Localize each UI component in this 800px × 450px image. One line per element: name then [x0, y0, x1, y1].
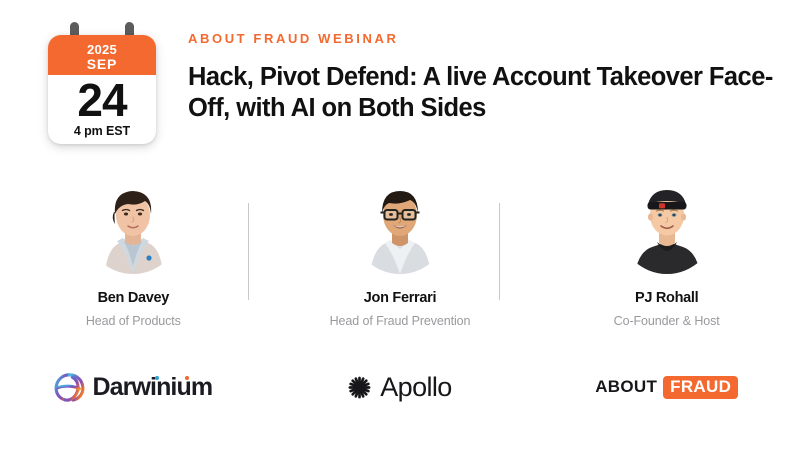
speaker-role: Co-Founder & Host — [614, 314, 720, 328]
darwinium-logo: Darwinium — [54, 372, 212, 403]
apollo-logo: Apollo — [348, 373, 451, 401]
darwinium-wordmark: Darwinium — [92, 374, 212, 400]
speaker-card-pj-rohall: PJ Rohall Co-Founder & Host — [533, 178, 800, 348]
speaker-role: Head of Fraud Prevention — [330, 314, 471, 328]
webinar-promo-card: 2025 SEP 24 4 pm EST ABOUT FRAUD WEBINAR… — [0, 0, 800, 450]
speakers-row: Ben Davey Head of Products — [0, 178, 800, 348]
speaker-card-jon-ferrari: Jon Ferrari Head of Fraud Prevention — [267, 178, 534, 348]
partner-logos-row: Darwinium Apollo — [0, 358, 800, 416]
calendar-day: 24 — [77, 79, 126, 121]
darwinium-mark-icon — [54, 372, 85, 403]
event-date-calendar: 2025 SEP 24 4 pm EST — [48, 22, 156, 144]
apollo-wordmark: Apollo — [380, 373, 451, 401]
speaker-card-ben-davey: Ben Davey Head of Products — [0, 178, 267, 348]
speaker-name: PJ Rohall — [635, 290, 698, 306]
calendar-time: 4 pm EST — [74, 125, 130, 138]
calendar-year: 2025 — [87, 43, 117, 56]
page-title: Hack, Pivot Defend: A live Account Takeo… — [188, 62, 788, 124]
aboutfraud-about-word: ABOUT — [595, 378, 657, 396]
avatar — [85, 178, 181, 274]
speaker-name: Ben Davey — [98, 290, 169, 306]
logo-cell-aboutfraud: ABOUT FRAUD — [533, 358, 800, 416]
darwinium-dot-orange — [185, 376, 189, 380]
darwinium-dot-blue — [155, 376, 159, 380]
eyebrow-label: ABOUT FRAUD WEBINAR — [188, 31, 398, 46]
avatar — [619, 178, 715, 274]
apollo-asterisk-mark-icon — [348, 376, 371, 399]
calendar-body: 24 4 pm EST — [48, 75, 156, 144]
logo-cell-darwinium: Darwinium — [0, 358, 267, 416]
speaker-name: Jon Ferrari — [364, 290, 436, 306]
aboutfraud-fraud-badge: FRAUD — [663, 376, 738, 399]
calendar-card: 2025 SEP 24 4 pm EST — [48, 35, 156, 144]
logo-cell-apollo: Apollo — [267, 358, 534, 416]
speaker-role: Head of Products — [86, 314, 181, 328]
avatar — [352, 178, 448, 274]
calendar-month: SEP — [87, 57, 117, 72]
calendar-header: 2025 SEP — [48, 35, 156, 75]
aboutfraud-logo: ABOUT FRAUD — [595, 376, 738, 399]
